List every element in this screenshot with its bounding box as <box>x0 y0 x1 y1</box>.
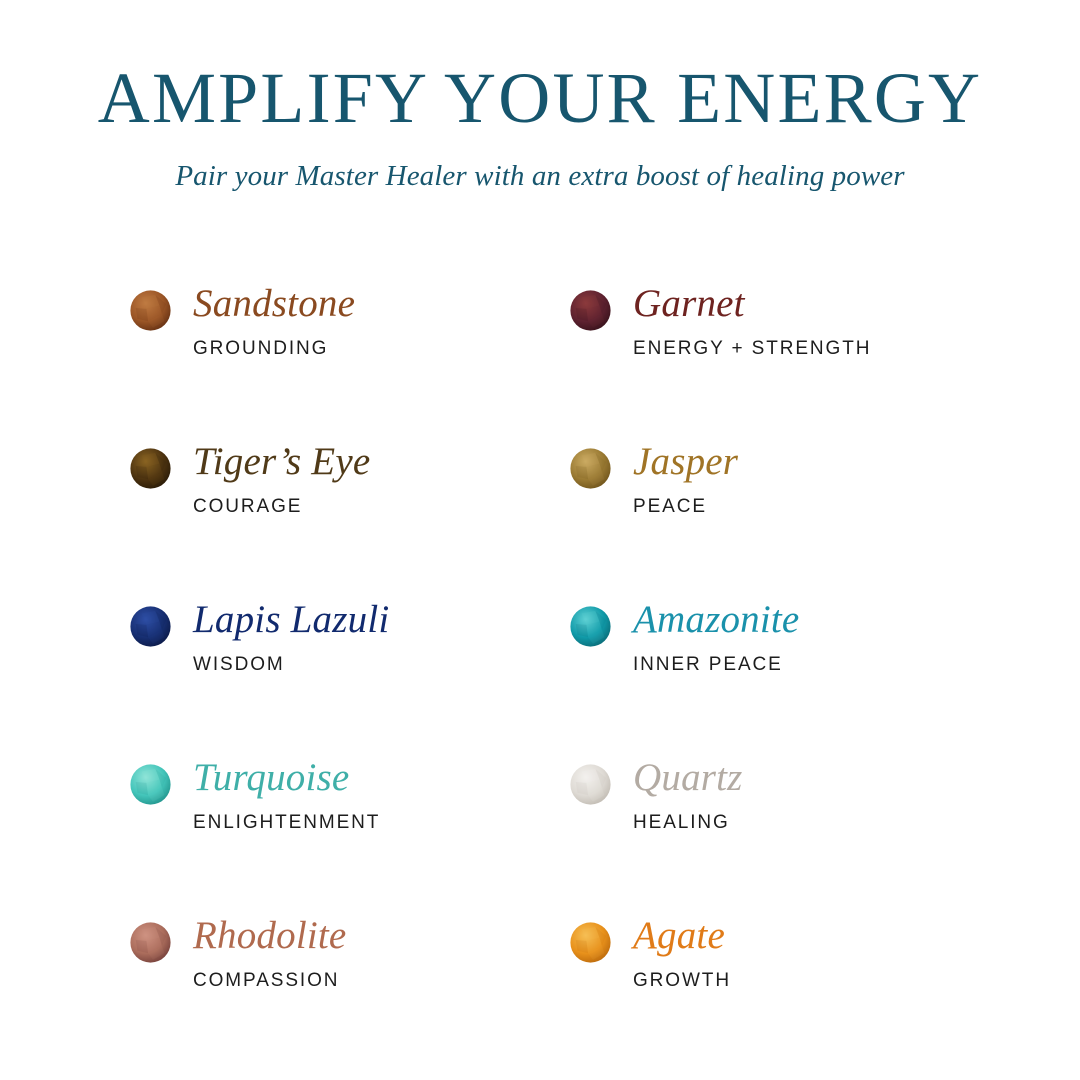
stone-text-block: JasperPEACE <box>633 434 738 519</box>
stone-name: Lapis Lazuli <box>193 592 389 648</box>
stone-item-jasper[interactable]: JasperPEACE <box>540 434 980 592</box>
stone-text-block: AgateGROWTH <box>633 908 731 993</box>
stone-item-lapis-lazuli[interactable]: Lapis LazuliWISDOM <box>100 592 540 750</box>
stone-text-block: SandstoneGROUNDING <box>193 276 355 361</box>
stone-item-rhodolite[interactable]: RhodoliteCOMPASSION <box>100 908 540 1066</box>
stone-name: Jasper <box>633 434 738 490</box>
stone-property: ENERGY + STRENGTH <box>633 332 871 361</box>
gemstone-bead-icon <box>570 290 611 331</box>
gemstone-bead-icon <box>130 764 171 805</box>
gemstone-bead-icon <box>570 764 611 805</box>
stone-name: Agate <box>633 908 731 964</box>
stone-text-block: AmazoniteINNER PEACE <box>633 592 799 677</box>
gemstone-bead-icon <box>570 922 611 963</box>
stone-name: Sandstone <box>193 276 355 332</box>
stone-text-block: Tiger’s EyeCOURAGE <box>193 434 370 519</box>
stone-item-sandstone[interactable]: SandstoneGROUNDING <box>100 276 540 434</box>
stone-property: COURAGE <box>193 490 370 519</box>
stone-property: INNER PEACE <box>633 648 799 677</box>
stone-item-amazonite[interactable]: AmazoniteINNER PEACE <box>540 592 980 750</box>
stone-text-block: Lapis LazuliWISDOM <box>193 592 389 677</box>
stone-property: GROUNDING <box>193 332 355 361</box>
stone-property: PEACE <box>633 490 738 519</box>
stone-item-quartz[interactable]: QuartzHEALING <box>540 750 980 908</box>
page-title: AMPLIFY YOUR ENERGY <box>0 0 1080 134</box>
stone-property: COMPASSION <box>193 964 346 993</box>
page-subtitle: Pair your Master Healer with an extra bo… <box>0 134 1080 191</box>
gemstone-bead-icon <box>130 290 171 331</box>
stone-grid: SandstoneGROUNDINGGarnetENERGY + STRENGT… <box>0 276 1080 1066</box>
stone-name: Tiger’s Eye <box>193 434 370 490</box>
stone-item-agate[interactable]: AgateGROWTH <box>540 908 980 1066</box>
stone-item-turquoise[interactable]: TurquoiseENLIGHTENMENT <box>100 750 540 908</box>
gemstone-bead-icon <box>130 448 171 489</box>
stone-name: Garnet <box>633 276 871 332</box>
gemstone-bead-icon <box>130 606 171 647</box>
stone-name: Rhodolite <box>193 908 346 964</box>
stone-item-garnet[interactable]: GarnetENERGY + STRENGTH <box>540 276 980 434</box>
stone-property: GROWTH <box>633 964 731 993</box>
header: AMPLIFY YOUR ENERGY Pair your Master Hea… <box>0 0 1080 191</box>
stone-name: Amazonite <box>633 592 799 648</box>
poster-canvas: AMPLIFY YOUR ENERGY Pair your Master Hea… <box>0 0 1080 1080</box>
stone-name: Quartz <box>633 750 743 806</box>
gemstone-bead-icon <box>570 606 611 647</box>
stone-item-tiger-s-eye[interactable]: Tiger’s EyeCOURAGE <box>100 434 540 592</box>
gemstone-bead-icon <box>130 922 171 963</box>
stone-name: Turquoise <box>193 750 380 806</box>
stone-text-block: QuartzHEALING <box>633 750 743 835</box>
stone-text-block: TurquoiseENLIGHTENMENT <box>193 750 380 835</box>
stone-property: ENLIGHTENMENT <box>193 806 380 835</box>
stone-property: HEALING <box>633 806 743 835</box>
gemstone-bead-icon <box>570 448 611 489</box>
stone-text-block: RhodoliteCOMPASSION <box>193 908 346 993</box>
stone-property: WISDOM <box>193 648 389 677</box>
stone-text-block: GarnetENERGY + STRENGTH <box>633 276 871 361</box>
